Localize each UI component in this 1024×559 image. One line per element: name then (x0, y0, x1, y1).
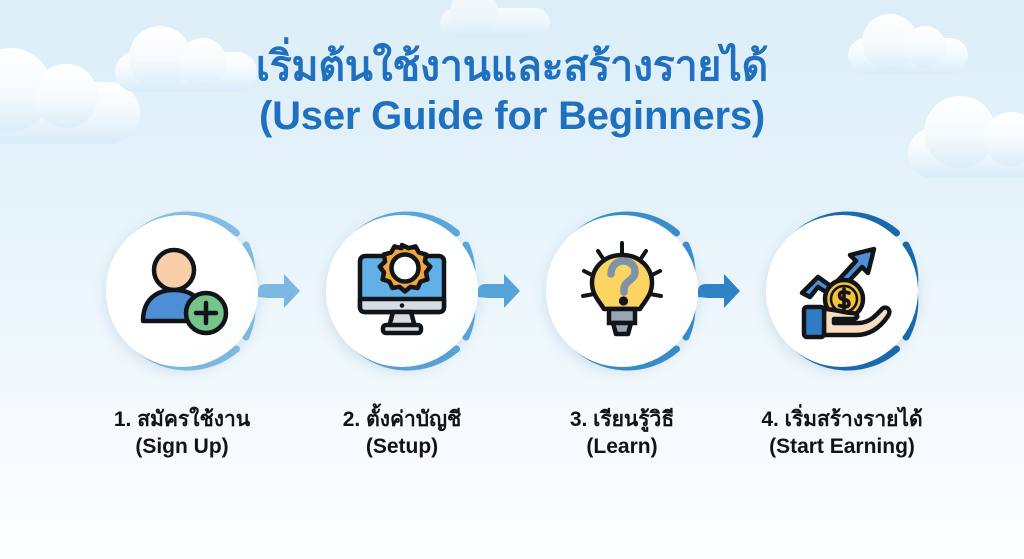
step-4-ring-wrap (744, 193, 940, 389)
lightbulb-question-icon (570, 239, 674, 343)
step-1-caption-english: (Sign Up) (114, 434, 250, 461)
step-4-caption-thai: 4. เริ่มสร้างรายได้ (761, 407, 922, 434)
arrow-right-icon-3 (690, 263, 746, 319)
step-2-caption-thai: 2. ตั้งค่าบัญชี (343, 407, 462, 434)
step-2-setup[interactable]: 2. ตั้งค่าบัญชี (Setup) (292, 193, 512, 461)
arrow-right-icon-1 (250, 263, 306, 319)
step-3-caption-thai: 3. เรียนรู้วิธี (570, 407, 674, 434)
hand-coin-growth-icon (790, 239, 894, 343)
step-2-ring-wrap (304, 193, 500, 389)
step-4-icon-disc (766, 215, 918, 367)
title-english: (User Guide for Beginners) (0, 94, 1024, 139)
page-title: เริ่มต้นใช้งานและสร้างรายได้ (User Guide… (0, 44, 1024, 139)
step-1-ring-wrap (84, 193, 280, 389)
step-4-start-earning[interactable]: 4. เริ่มสร้างรายได้ (Start Earning) (732, 193, 952, 461)
step-4-caption: 4. เริ่มสร้างรายได้ (Start Earning) (761, 407, 922, 461)
step-2-caption-english: (Setup) (343, 434, 462, 461)
step-3-caption-english: (Learn) (570, 434, 674, 461)
step-3-learn[interactable]: 3. เรียนรู้วิธี (Learn) (512, 193, 732, 461)
arrow-right-icon-2 (470, 263, 526, 319)
step-1-icon-disc (106, 215, 258, 367)
step-1-caption-thai: 1. สมัครใช้งาน (114, 407, 250, 434)
step-1-caption: 1. สมัครใช้งาน (Sign Up) (114, 407, 250, 461)
step-2-icon-disc (326, 215, 478, 367)
step-3-caption: 3. เรียนรู้วิธี (Learn) (570, 407, 674, 461)
step-1-sign-up[interactable]: 1. สมัครใช้งาน (Sign Up) (72, 193, 292, 461)
step-3-ring-wrap (524, 193, 720, 389)
step-3-icon-disc (546, 215, 698, 367)
title-thai: เริ่มต้นใช้งานและสร้างรายได้ (0, 44, 1024, 90)
monitor-gear-icon (350, 239, 454, 343)
infographic-canvas: เริ่มต้นใช้งานและสร้างรายได้ (User Guide… (0, 0, 1024, 559)
step-2-caption: 2. ตั้งค่าบัญชี (Setup) (343, 407, 462, 461)
user-add-icon (130, 239, 234, 343)
cloud-icon (440, 8, 550, 38)
step-4-caption-english: (Start Earning) (761, 434, 922, 461)
steps-row: 1. สมัครใช้งาน (Sign Up) (0, 193, 1024, 461)
